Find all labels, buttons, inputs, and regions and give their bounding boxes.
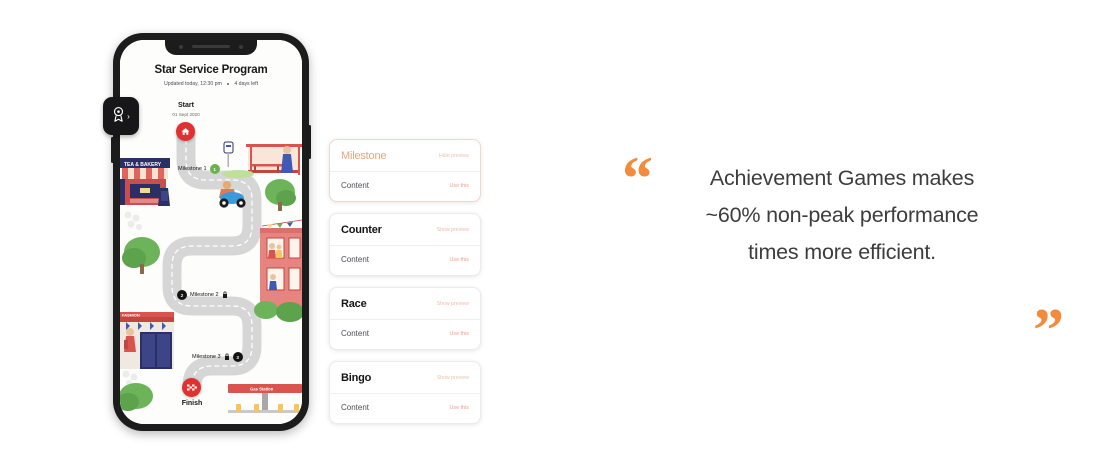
card-title: Milestone <box>341 150 386 162</box>
milestone-badge-1: 1 <box>210 164 220 174</box>
card-content-label: Content <box>341 403 369 412</box>
flag-icon[interactable] <box>182 378 201 397</box>
milestone-label-3: Milestone 3 <box>192 354 221 360</box>
lock-icon-2 <box>222 291 228 300</box>
card-header: Bingo Show preview <box>330 362 480 393</box>
card-counter[interactable]: Counter Show preview Content Use this <box>329 213 481 276</box>
sensor-icon <box>239 45 243 49</box>
card-content-label: Content <box>341 329 369 338</box>
card-header: Milestone Hide preview <box>330 140 480 171</box>
card-bingo[interactable]: Bingo Show preview Content Use this <box>329 361 481 424</box>
lock-icon-3 <box>224 353 230 362</box>
use-this-link[interactable]: Use this <box>450 257 469 263</box>
game-template-card-list: Milestone Hide preview Content Use this … <box>329 139 481 435</box>
card-content-label: Content <box>341 255 369 264</box>
journey-map-illustration: TEA & BAKERY <box>120 40 302 424</box>
start-date: 01 Sept 2020 <box>156 112 216 117</box>
quote-open-icon: “ <box>622 148 653 210</box>
award-badge-tab[interactable]: › <box>103 97 139 135</box>
separator-dot <box>227 83 230 86</box>
use-this-link[interactable]: Use this <box>450 405 469 411</box>
svg-text:Gas Station: Gas Station <box>250 387 274 392</box>
use-this-link[interactable]: Use this <box>450 183 469 189</box>
phone-screen: TEA & BAKERY <box>120 40 302 424</box>
toggle-preview-link[interactable]: Show preview <box>437 301 469 307</box>
earpiece-speaker <box>192 45 230 48</box>
quote-close-icon: ” <box>1033 300 1064 362</box>
milestone-badge-3: 3 <box>233 352 243 362</box>
use-this-link[interactable]: Use this <box>450 331 469 337</box>
quote-text: Achievement Games makes ~60% non-peak pe… <box>670 160 1014 271</box>
days-left-text: 4 days left <box>234 81 258 87</box>
quote-line-1: Achievement Games makes <box>670 160 1014 197</box>
phone-mockup: TEA & BAKERY <box>113 33 309 431</box>
phone-button-power <box>308 125 311 159</box>
home-icon[interactable] <box>176 122 195 141</box>
phone-notch <box>165 40 257 55</box>
phone-button-volume <box>111 137 114 163</box>
quote-line-3: times more efficient. <box>670 234 1014 271</box>
card-footer: Content Use this <box>330 320 480 349</box>
toggle-preview-link[interactable]: Show preview <box>437 375 469 381</box>
toggle-preview-link[interactable]: Show preview <box>437 227 469 233</box>
finish-label: Finish <box>160 400 224 407</box>
svg-text:TEA & BAKERY: TEA & BAKERY <box>124 162 162 168</box>
testimonial-quote: “ Achievement Games makes ~60% non-peak … <box>612 150 1072 340</box>
card-footer: Content Use this <box>330 246 480 275</box>
milestone-badge-2: 2 <box>177 290 187 300</box>
card-content-label: Content <box>341 181 369 190</box>
milestone-row-1[interactable]: Milestone 1 1 <box>178 164 220 174</box>
card-milestone[interactable]: Milestone Hide preview Content Use this <box>329 139 481 202</box>
award-ribbon-icon <box>112 106 125 127</box>
front-camera-icon <box>179 45 183 49</box>
card-header: Counter Show preview <box>330 214 480 245</box>
milestone-label-2: Milestone 2 <box>190 292 219 298</box>
quote-line-2: ~60% non-peak performance <box>670 197 1014 234</box>
svg-text:FASHION: FASHION <box>122 313 140 318</box>
card-race[interactable]: Race Show preview Content Use this <box>329 287 481 350</box>
card-title: Race <box>341 298 367 310</box>
chevron-right-icon: › <box>127 112 130 121</box>
start-label: Start <box>156 102 216 109</box>
updated-text: Updated today, 12:30 pm <box>164 81 222 87</box>
toggle-preview-link[interactable]: Hide preview <box>439 153 469 159</box>
milestone-row-2[interactable]: 2 Milestone 2 <box>177 290 228 300</box>
milestone-row-3[interactable]: Milestone 3 3 <box>192 352 243 362</box>
card-footer: Content Use this <box>330 172 480 201</box>
page-title: Star Service Program <box>120 64 302 76</box>
card-title: Bingo <box>341 372 371 384</box>
card-title: Counter <box>341 224 382 236</box>
card-footer: Content Use this <box>330 394 480 423</box>
page-subtitle: Updated today, 12:30 pm 4 days left <box>120 81 302 87</box>
milestone-label-1: Milestone 1 <box>178 166 207 172</box>
card-header: Race Show preview <box>330 288 480 319</box>
